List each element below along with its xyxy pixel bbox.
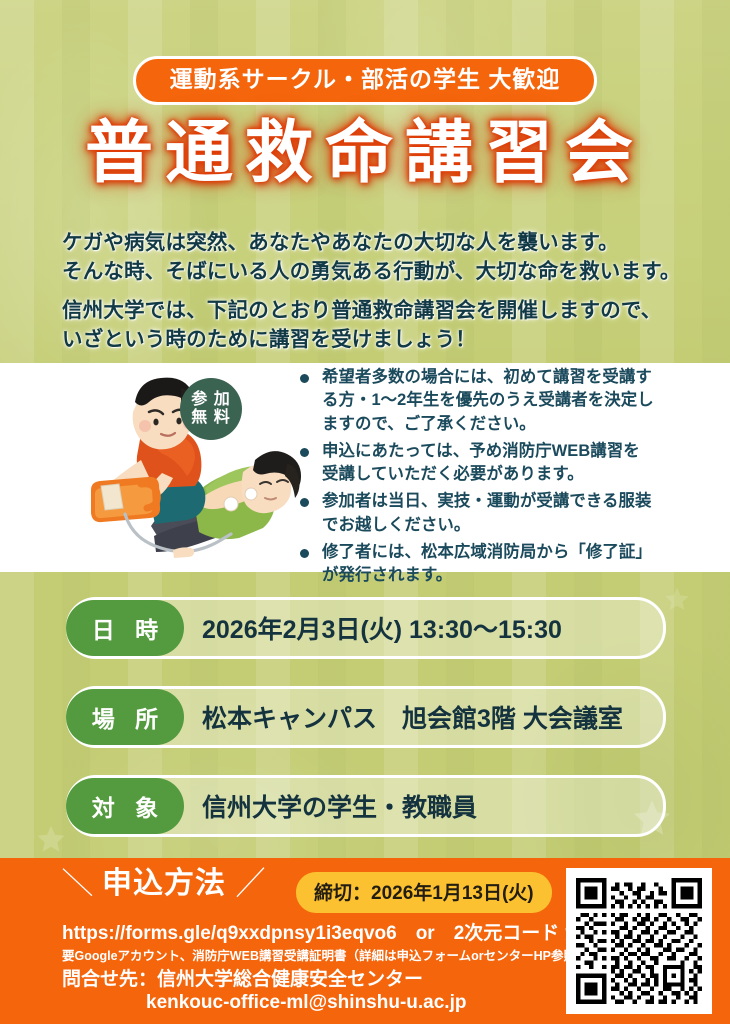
page-title: 普通救命講習会 [85, 118, 645, 189]
lead-line-2: そんな時、そばにいる人の勇気ある行動が、大切な命を救います。 [62, 257, 681, 286]
lead-line-1: ケガや病気は突然、あなたやあなたの大切な人を襲います。 [62, 228, 681, 257]
lead-paragraph-2: 信州大学では、下記のとおり普通救命講習会を開催しますので、 いざという時のために… [62, 296, 661, 354]
bullet-line: 修了者には、松本広域消防局から「修了証」 [322, 541, 652, 564]
top-banner-pill: 運動系サークル・部活の学生 大歓迎 [133, 56, 598, 105]
bullet-line: る方・1〜2年生を優先のうえ受講者を決定し [322, 389, 654, 412]
bullet-text: 申込にあたっては、予め消防庁WEB講習を 受講していただく必要があります。 [322, 440, 640, 487]
slash-left-icon: ＼ [61, 867, 93, 899]
bullet-line: 申込にあたっては、予め消防庁WEB講習を [322, 440, 640, 463]
free-badge-line-2: 無 料 [191, 409, 230, 427]
deadline-badge: 締切：2026年1月13日(火) [296, 872, 552, 913]
list-item: 参加者は当日、実技・運動が受講できる服装 でお越しください。 [300, 490, 702, 537]
bullet-line: でお越しください。 [322, 514, 651, 537]
application-title: 申込方法 [102, 869, 226, 899]
application-note-line: 要Googleアカウント、消防庁WEB講習受講証明書（詳細は申込フォームorセン… [62, 945, 588, 964]
list-item: 修了者には、松本広域消防局から「修了証」 が発行されます。 [300, 541, 702, 588]
bullet-dot-icon [300, 549, 309, 558]
free-participation-badge: 参 加 無 料 [180, 378, 242, 440]
lead-paragraph-1: ケガや病気は突然、あなたやあなたの大切な人を襲います。 そんな時、そばにいる人の… [62, 228, 681, 286]
application-heading: ＼ 申込方法 ／ [62, 868, 266, 899]
qr-code[interactable] [566, 868, 712, 1014]
info-row-audience: 対 象 信州大学の学生・教職員 [66, 775, 666, 837]
slash-right-icon: ／ [234, 867, 266, 899]
application-url-line[interactable]: https://forms.gle/q9xxdpnsy1i3eqvo6 or 2… [62, 918, 603, 945]
list-item: 希望者多数の場合には、初めて講習を受講す る方・1〜2年生を優先のうえ受講者を決… [300, 366, 702, 436]
application-footer: ＼ 申込方法 ／ 締切：2026年1月13日(火) https://forms.… [0, 858, 730, 1024]
info-row-datetime: 日 時 2026年2月3日(火) 13:30〜15:30 [66, 597, 666, 659]
info-value-audience: 信州大学の学生・教職員 [184, 788, 663, 824]
bullet-dot-icon [300, 374, 309, 383]
bullet-dot-icon [300, 498, 309, 507]
qr-code-icon [576, 878, 702, 1004]
bullet-dot-icon [300, 448, 309, 457]
bullet-line: が発行されます。 [322, 564, 652, 587]
bullet-line: 希望者多数の場合には、初めて講習を受講す [322, 366, 654, 389]
bullet-text: 希望者多数の場合には、初めて講習を受講す る方・1〜2年生を優先のうえ受講者を決… [322, 366, 654, 436]
free-badge-line-1: 参 加 [191, 391, 230, 409]
bullet-line: ますので、ご了承ください。 [322, 413, 654, 436]
page-title-wrap: 普通救命講習会 [0, 118, 730, 189]
info-label-audience: 対 象 [66, 778, 184, 834]
bullet-line: 参加者は当日、実技・運動が受講できる服装 [322, 490, 651, 513]
top-banner: 運動系サークル・部活の学生 大歓迎 [0, 56, 730, 105]
list-item: 申込にあたっては、予め消防庁WEB講習を 受講していただく必要があります。 [300, 440, 702, 487]
contact-line: 問合せ先：信州大学総合健康安全センター [62, 967, 423, 993]
contact-email[interactable]: kenkouc-office-ml@shinshu-u.ac.jp [146, 992, 466, 1014]
lead-line-4: いざという時のために講習を受けましょう！ [62, 325, 661, 354]
info-label-datetime: 日 時 [66, 600, 184, 656]
info-value-venue: 松本キャンパス 旭会館3階 大会議室 [184, 699, 663, 735]
notes-bullet-list: 希望者多数の場合には、初めて講習を受講す る方・1〜2年生を優先のうえ受講者を決… [300, 366, 702, 592]
poster-root: 運動系サークル・部活の学生 大歓迎 普通救命講習会 ケガや病気は突然、あなたやあ… [0, 0, 730, 1024]
info-value-datetime: 2026年2月3日(火) 13:30〜15:30 [184, 610, 663, 646]
bullet-text: 修了者には、松本広域消防局から「修了証」 が発行されます。 [322, 541, 652, 588]
aed-cpr-illustration-icon [55, 368, 305, 568]
event-info-rows: 日 時 2026年2月3日(火) 13:30〜15:30 場 所 松本キャンパス… [66, 597, 666, 864]
bullet-line: 受講していただく必要があります。 [322, 463, 640, 486]
info-row-venue: 場 所 松本キャンパス 旭会館3階 大会議室 [66, 686, 666, 748]
lead-text-block: ケガや病気は突然、あなたやあなたの大切な人を襲います。 そんな時、そばにいる人の… [62, 228, 692, 348]
info-label-venue: 場 所 [66, 689, 184, 745]
bullet-text: 参加者は当日、実技・運動が受講できる服装 でお越しください。 [322, 490, 651, 537]
lead-line-3: 信州大学では、下記のとおり普通救命講習会を開催しますので、 [62, 296, 661, 325]
